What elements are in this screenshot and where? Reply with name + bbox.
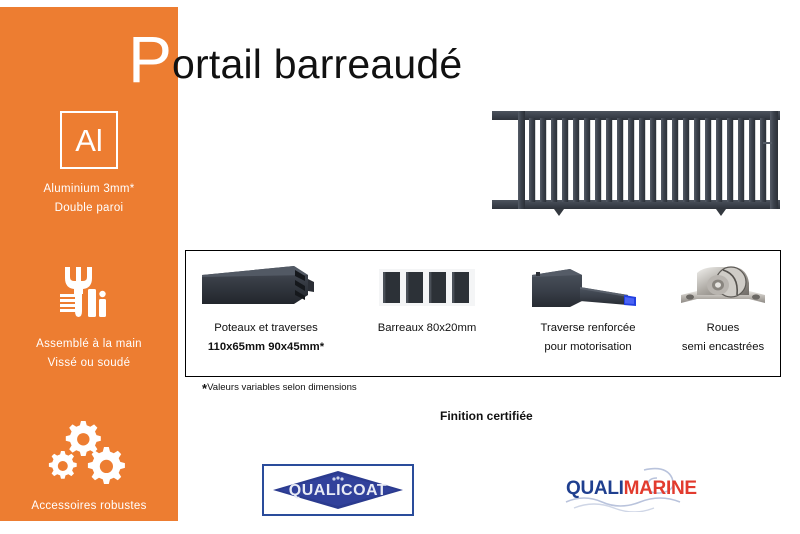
- sidebar-feature-accessories: Accessoires robustes: [0, 415, 178, 516]
- aluminium-symbol-text: Al: [75, 125, 103, 156]
- page-title-capital: P: [128, 26, 172, 92]
- sidebar-feature-assembly: Assemblé à la main Vissé ou soudé: [0, 263, 178, 373]
- product-item-poteaux-line2: 110x65mm 90x45mm*: [186, 338, 346, 357]
- product-item-roues-line2: semi encastrées: [666, 338, 780, 357]
- qualicoat-logo-text: QUALICOAT: [289, 482, 387, 499]
- aluminium-square-icon: Al: [60, 111, 118, 169]
- page-title-rest: ortail barreaudé: [172, 44, 462, 85]
- gears-icon: [0, 415, 178, 487]
- product-item-poteaux: Poteaux et traverses 110x65mm 90x45mm*: [186, 251, 346, 376]
- wrench-assembly-icon: [0, 263, 178, 325]
- product-item-barreaux-line1: Barreaux 80x20mm: [344, 319, 510, 338]
- product-item-traverse: Traverse renforcée pour motorisation: [508, 251, 668, 376]
- qualimarine-logo-part2: MARINE: [624, 478, 697, 499]
- poster-canvas: Al Aluminium 3mm* Double paroi: [0, 0, 800, 534]
- sidebar-feature-aluminium-line1: Aluminium 3mm*: [0, 180, 178, 199]
- product-item-roues-line1: Roues: [666, 319, 780, 338]
- product-components-panel: Poteaux et traverses 110x65mm 90x45mm* B…: [185, 250, 781, 377]
- qualimarine-logo: QUALIMARINE: [560, 466, 718, 512]
- product-item-poteaux-line1: Poteaux et traverses: [186, 319, 346, 338]
- footnote-text: Valeurs variables selon dimensions: [207, 382, 357, 393]
- product-item-roues: Roues semi encastrées: [666, 251, 780, 376]
- bars-profile-icon: [344, 255, 510, 319]
- semi-recessed-wheel-icon: [666, 255, 780, 319]
- sidebar-feature-accessories-line1: Accessoires robustes: [0, 497, 178, 516]
- qualimarine-logo-text: QUALIMARINE: [566, 478, 697, 500]
- product-item-traverse-line1: Traverse renforcée: [508, 319, 668, 338]
- footnote: *Valeurs variables selon dimensions: [202, 382, 357, 397]
- aluminium-post-profile-icon: [186, 255, 346, 319]
- product-item-barreaux: Barreaux 80x20mm: [344, 251, 510, 376]
- certification-heading: Finition certifiée: [440, 409, 533, 423]
- qualimarine-logo-part1: QUALI: [566, 478, 624, 499]
- sidebar-feature-aluminium-line2: Double paroi: [0, 199, 178, 218]
- sidebar-feature-aluminium: Al Aluminium 3mm* Double paroi: [0, 111, 178, 218]
- sidebar-feature-assembly-line1: Assemblé à la main: [0, 335, 178, 354]
- product-item-traverse-line2: pour motorisation: [508, 338, 668, 357]
- qualicoat-logo: QUALICOAT: [262, 464, 414, 516]
- barred-sliding-gate-illustration: [470, 100, 788, 225]
- reinforced-crossbeam-icon: [508, 255, 668, 319]
- footnote-star: *: [202, 381, 207, 396]
- sidebar-feature-assembly-line2: Vissé ou soudé: [0, 354, 178, 373]
- page-title: P ortail barreaudé: [128, 22, 462, 92]
